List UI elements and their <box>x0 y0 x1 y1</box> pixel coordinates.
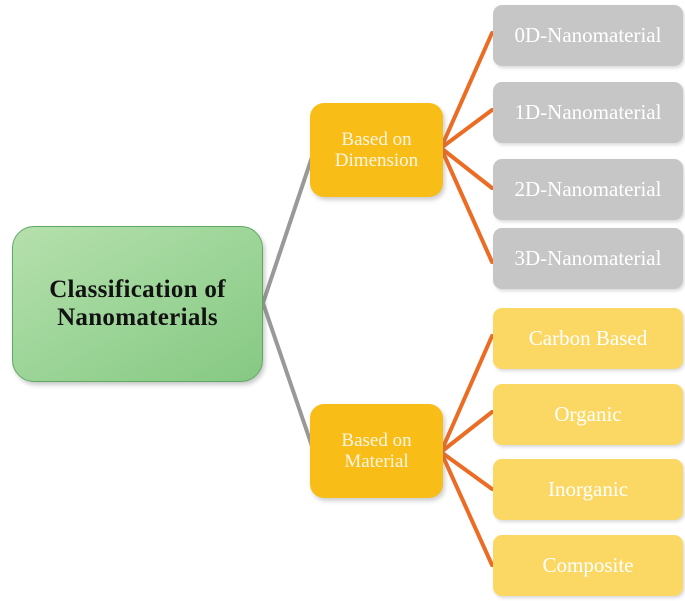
node-classification-of-nanomaterials[interactable]: Classification of Nanomaterials <box>12 226 263 382</box>
dimension-label-line2: Dimension <box>335 150 418 171</box>
node-3d-nanomaterial[interactable]: 3D-Nanomaterial <box>493 228 683 289</box>
node-carbon-based[interactable]: Carbon Based <box>493 308 683 369</box>
root-connectors <box>263 151 314 452</box>
leaf-label: Inorganic <box>548 478 628 502</box>
node-2d-nanomaterial[interactable]: 2D-Nanomaterial <box>493 159 683 220</box>
leaf-label: 3D-Nanomaterial <box>515 247 662 271</box>
edge-material-to-composite <box>441 452 492 565</box>
edge-dimension-to-0d <box>441 33 492 148</box>
material-label-line2: Material <box>344 451 408 472</box>
leaf-label: 1D-Nanomaterial <box>515 101 662 125</box>
diagram-canvas: Classification of Nanomaterials Based on… <box>0 0 685 601</box>
node-0d-nanomaterial[interactable]: 0D-Nanomaterial <box>493 5 683 66</box>
node-1d-nanomaterial[interactable]: 1D-Nanomaterial <box>493 82 683 143</box>
material-connectors <box>441 336 492 565</box>
edge-material-to-organic <box>441 412 492 452</box>
node-organic[interactable]: Organic <box>493 384 683 445</box>
edge-root-to-material <box>263 303 314 452</box>
node-inorganic[interactable]: Inorganic <box>493 459 683 520</box>
leaf-label: 2D-Nanomaterial <box>515 178 662 202</box>
leaf-label: Carbon Based <box>529 327 647 351</box>
leaf-label: Composite <box>542 554 633 578</box>
leaf-label: Organic <box>554 403 621 427</box>
edge-root-to-dimension <box>263 151 314 303</box>
dimension-connectors <box>441 33 492 262</box>
material-label-line1: Based on <box>341 430 411 451</box>
edge-material-to-carbon <box>441 336 492 452</box>
node-composite[interactable]: Composite <box>493 535 683 596</box>
root-label-line2: Nanomaterials <box>49 304 226 332</box>
edge-dimension-to-2d <box>441 148 492 188</box>
edge-dimension-to-1d <box>441 110 492 148</box>
dimension-label-line1: Based on <box>341 129 411 150</box>
node-based-on-dimension[interactable]: Based on Dimension <box>310 103 443 197</box>
edge-dimension-to-3d <box>441 148 492 262</box>
leaf-label: 0D-Nanomaterial <box>515 24 662 48</box>
edge-material-to-inorganic <box>441 452 492 489</box>
root-label-line1: Classification of <box>49 276 226 304</box>
node-based-on-material[interactable]: Based on Material <box>310 404 443 498</box>
